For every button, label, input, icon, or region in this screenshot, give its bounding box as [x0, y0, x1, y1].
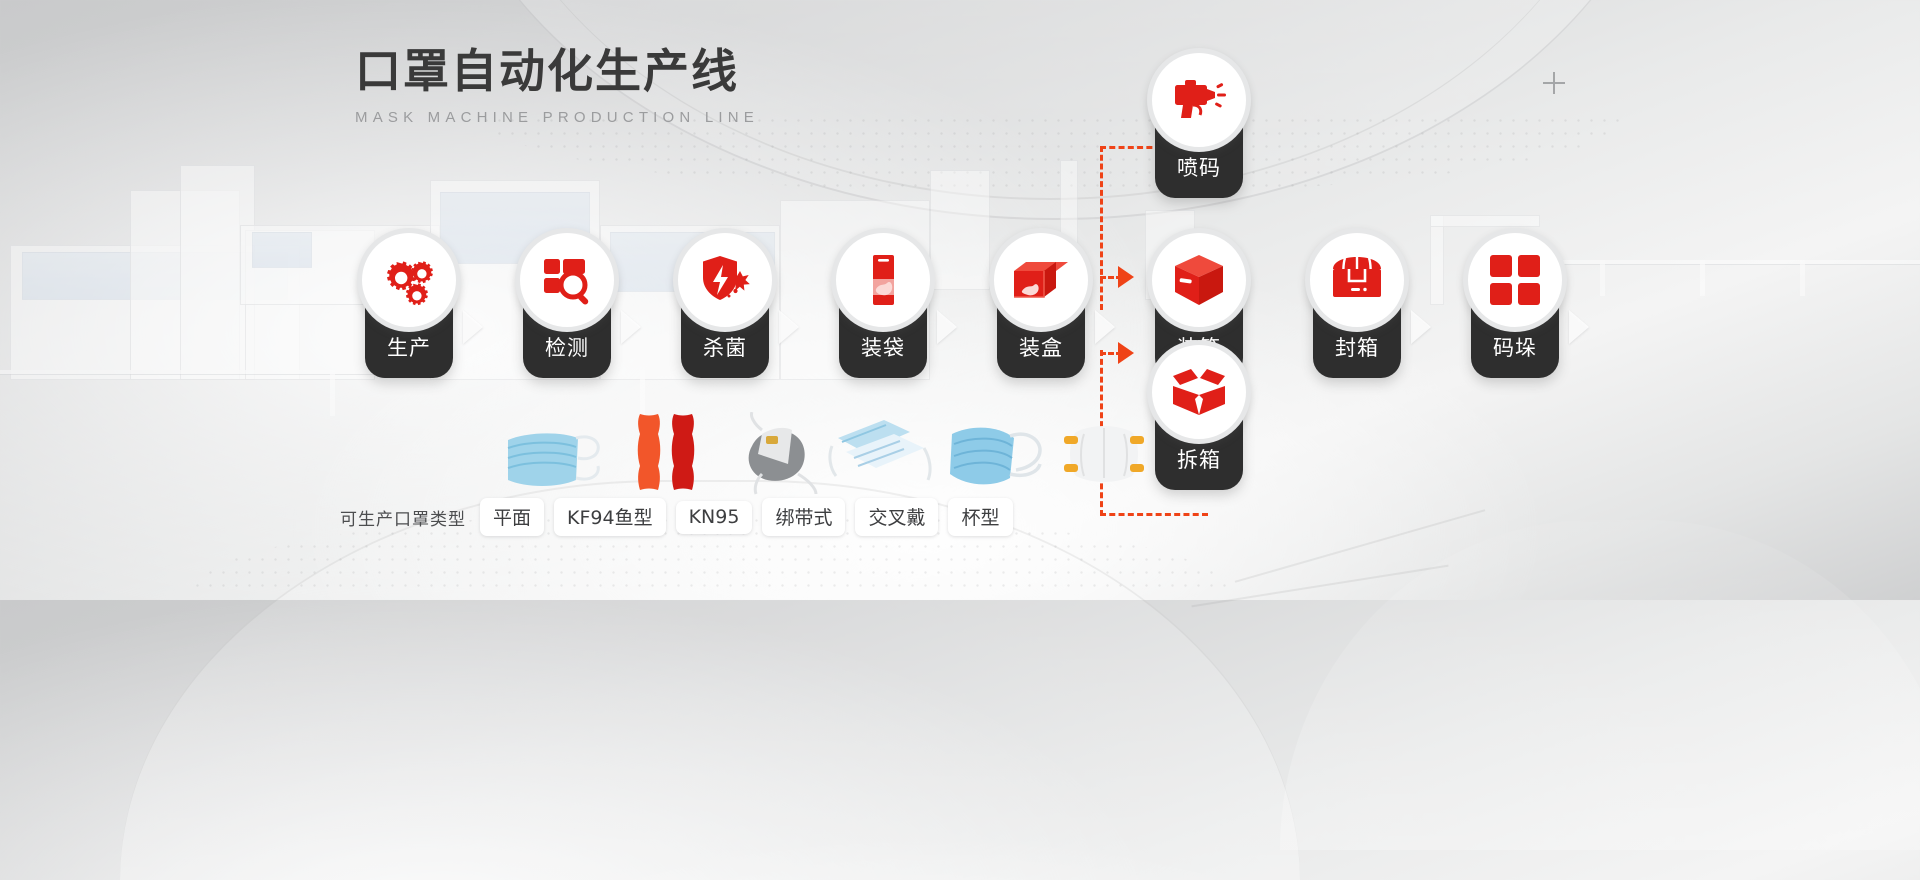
node-label: 码垛: [1471, 332, 1559, 362]
flow-arrow-1: [463, 310, 483, 344]
shield-sterilize-icon: [673, 228, 777, 332]
magnifier-inspect-icon: [515, 228, 619, 332]
boxing-carton-icon: [989, 228, 1093, 332]
product-cup-mask-white: [1054, 416, 1158, 499]
sealed-box-icon: [1305, 228, 1409, 332]
background-mask-watermark-bottom-right: [1280, 520, 1920, 850]
background-mask-strap-2: [1191, 565, 1448, 608]
branch-arrow-bottom: [1118, 342, 1134, 364]
node-label: 封箱: [1313, 332, 1401, 362]
node-label: 装盒: [997, 332, 1085, 362]
mask-type-chip-crossover[interactable]: 交叉戴: [855, 498, 938, 536]
background-mask-watermark-bottom: [120, 480, 1300, 880]
mask-type-chip-tieon[interactable]: 绑带式: [762, 498, 845, 536]
mask-type-chip-flat[interactable]: 平面: [480, 498, 544, 536]
node-label: 生产: [365, 332, 453, 362]
palletizing-grid-icon: [1463, 228, 1567, 332]
bagging-icon: [831, 228, 935, 332]
product-flat-blue-mask: [500, 418, 610, 501]
product-blue-earloop-mask: [940, 414, 1056, 501]
page-subtitle: MASK MACHINE PRODUCTION LINE: [355, 109, 759, 126]
background-machinery-photo: [0, 170, 1920, 420]
mask-type-chip-kn95[interactable]: KN95: [676, 501, 753, 534]
gears-icon: [357, 228, 461, 332]
node-label: 拆箱: [1155, 444, 1243, 474]
product-kf94-fish-masks: [626, 410, 706, 499]
page-title-block: 口罩自动化生产线 MASK MACHINE PRODUCTION LINE: [355, 46, 759, 126]
background-mask-strap: [1235, 509, 1485, 583]
banner-stage: 口罩自动化生产线 MASK MACHINE PRODUCTION LINE 生产: [0, 0, 1920, 600]
branch-line-bottom-horizontal: [1100, 513, 1208, 516]
page-title: 口罩自动化生产线: [355, 46, 759, 97]
closed-box-icon: [1147, 228, 1251, 332]
product-stacked-flat-masks: [824, 412, 944, 501]
mask-type-chip-kf94[interactable]: KF94鱼型: [554, 498, 666, 536]
node-label: 检测: [523, 332, 611, 362]
flow-arrow-3: [779, 310, 799, 344]
node-label: 装袋: [839, 332, 927, 362]
product-kn95-gray-valve-mask: [728, 412, 836, 501]
inkjet-spray-gun-icon: [1147, 48, 1251, 152]
node-label: 杀菌: [681, 332, 769, 362]
mask-type-chip-cup[interactable]: 杯型: [948, 498, 1012, 536]
plus-crosshair-icon: [1543, 72, 1565, 94]
mask-types-row: 可生产口罩类型 平面 KF94鱼型 KN95 绑带式 交叉戴 杯型: [340, 498, 1013, 536]
open-box-icon: [1147, 340, 1251, 444]
flow-arrow-4: [937, 310, 957, 344]
flow-arrow-5: [1095, 310, 1115, 344]
flow-arrow-6: [1411, 310, 1431, 344]
node-label: 喷码: [1155, 152, 1243, 182]
branch-arrow-top: [1118, 266, 1134, 288]
flow-arrow-2: [621, 310, 641, 344]
branch-line-top-vertical: [1100, 146, 1103, 310]
mask-types-caption: 可生产口罩类型: [340, 505, 466, 530]
flow-arrow-7: [1569, 310, 1589, 344]
